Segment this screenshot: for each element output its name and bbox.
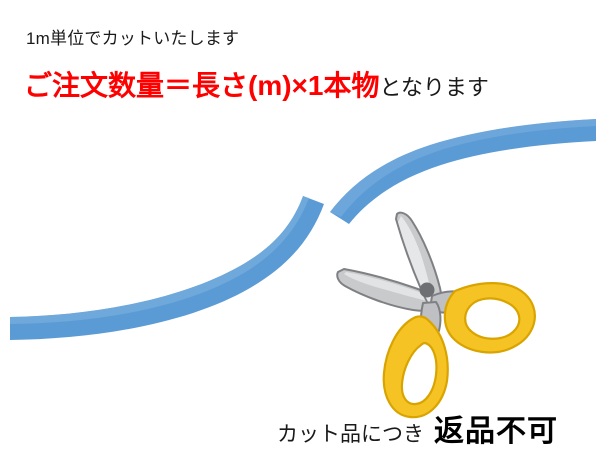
scissors-rivet (420, 283, 435, 298)
headline-main-red: ご注文数量＝長さ(m)×1本物 (24, 70, 379, 101)
headline-small: 1m単位でカットいたします (26, 30, 239, 47)
blue-cable-left-segment (10, 196, 324, 340)
blue-cable-right-segment (330, 119, 596, 224)
footer-notice: カット品につき返品不可 (277, 417, 558, 447)
poster-canvas: 1m単位でカットいたします ご注文数量＝長さ(m)×1本物となります カット品に… (0, 0, 600, 466)
footer-notice-strong: 返品不可 (434, 415, 558, 448)
scissors-icon (337, 213, 535, 418)
footer-notice-small: カット品につき (277, 423, 424, 446)
scissors-handle-upper (445, 283, 535, 352)
scissors-handle-lower (384, 316, 448, 417)
headline-main: ご注文数量＝長さ(m)×1本物となります (24, 72, 489, 100)
headline-main-tail: となります (379, 75, 488, 100)
